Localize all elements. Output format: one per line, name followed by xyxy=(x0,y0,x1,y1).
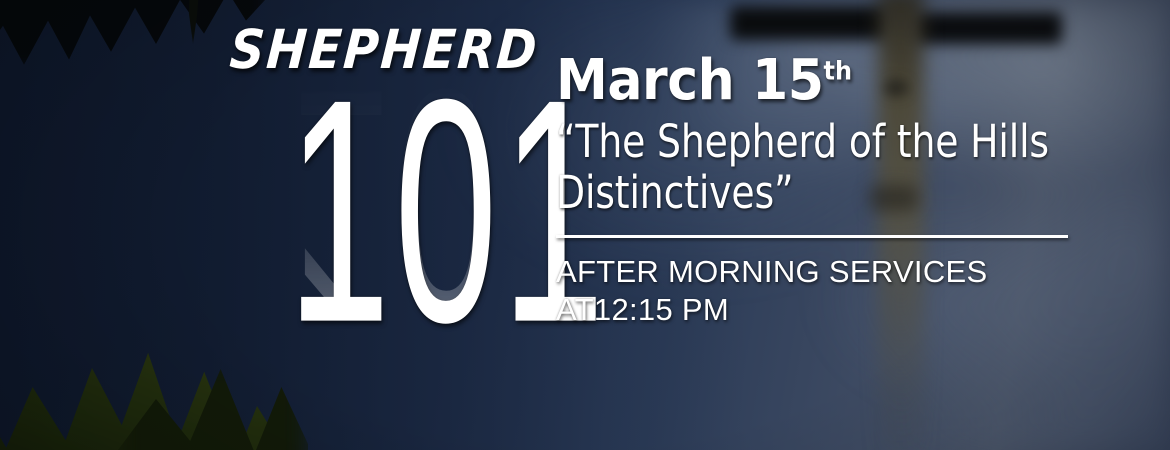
banner-content: SHEPHERD 101 101 March 15th “The Shepher… xyxy=(0,0,1170,450)
brand-lockup: SHEPHERD 101 101 xyxy=(230,26,530,390)
title-divider xyxy=(556,235,1068,238)
event-date-text: March 15 xyxy=(556,48,823,113)
brand-numerals-wrap: 101 101 xyxy=(230,80,530,390)
event-date: March 15th xyxy=(556,52,1058,109)
event-title-line-1: “The Shepherd of the Hills xyxy=(556,117,1094,167)
event-details: March 15th “The Shepherd of the Hills Di… xyxy=(556,52,1096,329)
event-time-line-1: AFTER MORNING SERVICES xyxy=(556,253,1096,291)
event-banner: SHEPHERD 101 101 March 15th “The Shepher… xyxy=(0,0,1170,450)
brand-numerals: 101 xyxy=(287,80,473,341)
event-title-line-2: Distinctives” xyxy=(556,168,1094,218)
event-time-info: AFTER MORNING SERVICES AT12:15 PM xyxy=(556,253,1096,329)
event-title: “The Shepherd of the Hills Distinctives” xyxy=(556,117,1094,218)
event-date-ordinal: th xyxy=(823,56,852,86)
event-time-line-2: AT12:15 PM xyxy=(556,291,1096,329)
